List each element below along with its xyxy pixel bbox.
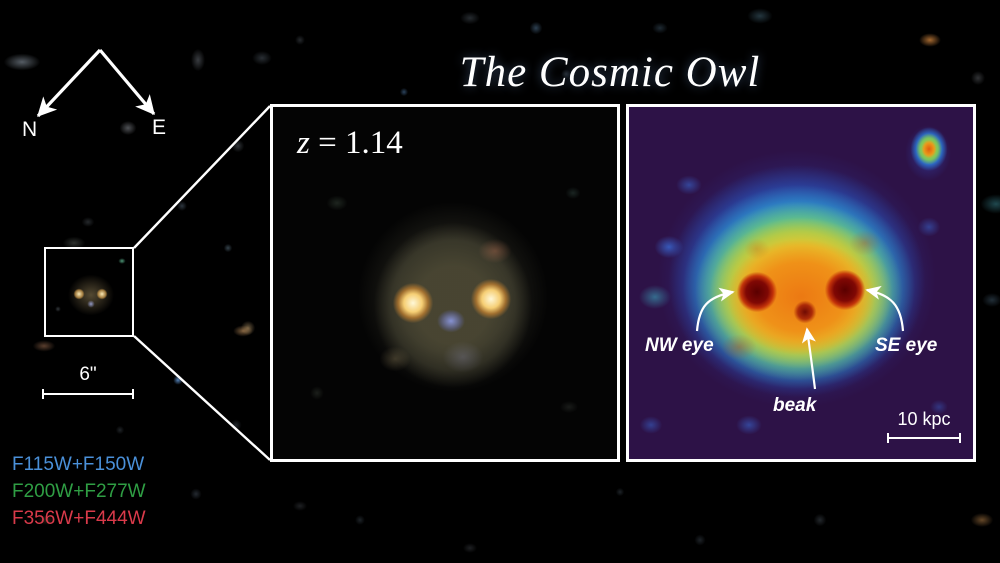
annotation-beak: beak <box>773 395 816 417</box>
companion-source <box>889 109 969 201</box>
scalebar-6arcsec-label: 6" <box>42 364 134 386</box>
compass-north-label: N <box>22 118 37 142</box>
filter-legend: F115W+F150W F200W+F277W F356W+F444W <box>12 452 146 533</box>
scalebar-10kpc-line <box>887 433 961 443</box>
source-cutout-box <box>44 247 134 337</box>
figure-title-text: The Cosmic Owl <box>460 49 761 96</box>
panel-emission-map: NW eye beak SE eye 10 kpc <box>626 104 976 462</box>
owl-thumbnail-image <box>46 249 132 335</box>
scalebar-10kpc-label: 10 kpc <box>887 409 961 430</box>
filter-legend-item-red: F356W+F444W <box>12 506 146 533</box>
cosmic-owl-figure: The Cosmic Owl N E 6" F115W+F150W F200W+… <box>0 0 1000 563</box>
filter-legend-item-green: F200W+F277W <box>12 479 146 506</box>
filter-legend-item-blue: F115W+F150W <box>12 452 146 479</box>
redshift-value: = 1.14 <box>310 125 403 161</box>
redshift-symbol: z <box>297 125 310 161</box>
scalebar-6arcsec-line <box>42 389 134 399</box>
compass-rose: N E <box>8 28 183 153</box>
redshift-label: z = 1.14 <box>297 125 403 162</box>
annotation-se-eye: SE eye <box>875 335 937 357</box>
compass-east-label: E <box>152 116 166 140</box>
scalebar-6arcsec: 6" <box>42 364 134 399</box>
scalebar-10kpc: 10 kpc <box>887 409 961 443</box>
annotation-nw-eye: NW eye <box>645 335 714 357</box>
panel-nircam-composite: z = 1.14 1" <box>270 104 620 462</box>
